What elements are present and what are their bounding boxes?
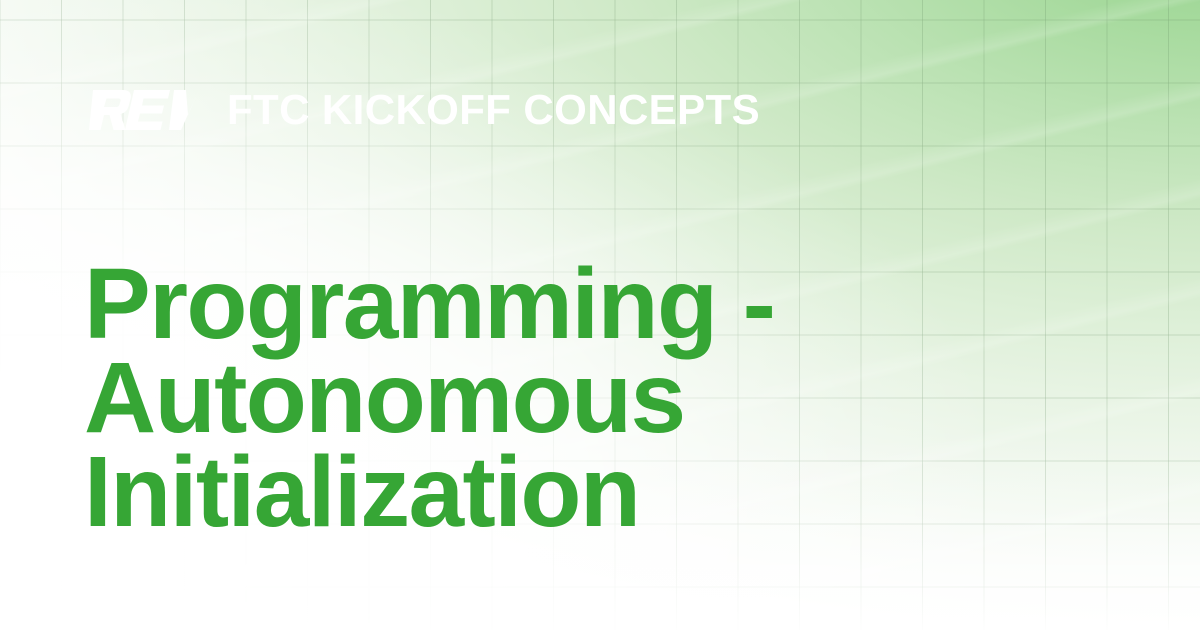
page-title-line-3: Initialization [84, 445, 804, 539]
header-bar: FTC KICKOFF CONCEPTS [86, 86, 760, 134]
rev-robotics-logo [86, 90, 199, 130]
header-title: FTC KICKOFF CONCEPTS [227, 89, 760, 131]
page-title: Programming - Autonomous Initialization [84, 257, 804, 539]
page-title-line-1: Programming - [84, 257, 804, 351]
page-title-line-2: Autonomous [84, 351, 804, 445]
slide-canvas: FTC KICKOFF CONCEPTS Programming - Auton… [0, 0, 1200, 630]
